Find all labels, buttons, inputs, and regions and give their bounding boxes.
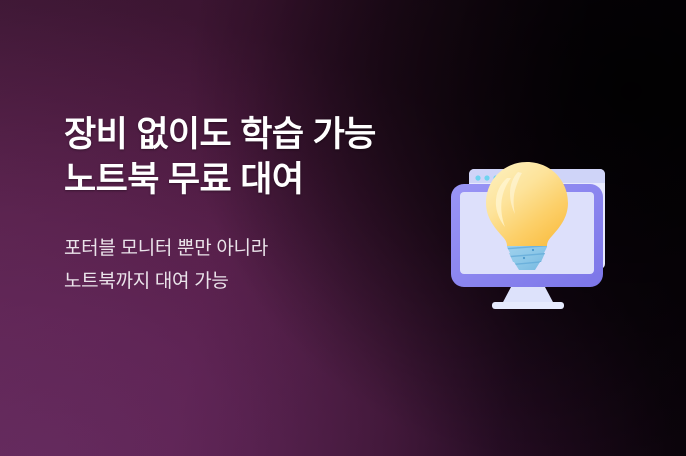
subcopy: 포터블 모니터 뿐만 아니라 노트북까지 대여 가능 (64, 232, 376, 298)
copy-block: 장비 없이도 학습 가능 노트북 무료 대여 포터블 모니터 뿐만 아니라 노트… (64, 112, 376, 298)
headline-line-1: 장비 없이도 학습 가능 (64, 112, 376, 157)
monitor-lightbulb-illustration (445, 158, 631, 314)
subcopy-line-2: 노트북까지 대여 가능 (64, 265, 376, 298)
headline: 장비 없이도 학습 가능 노트북 무료 대여 (64, 112, 376, 202)
subcopy-line-1: 포터블 모니터 뿐만 아니라 (64, 232, 376, 265)
headline-line-2: 노트북 무료 대여 (64, 157, 376, 202)
promo-banner: 장비 없이도 학습 가능 노트북 무료 대여 포터블 모니터 뿐만 아니라 노트… (0, 0, 686, 456)
